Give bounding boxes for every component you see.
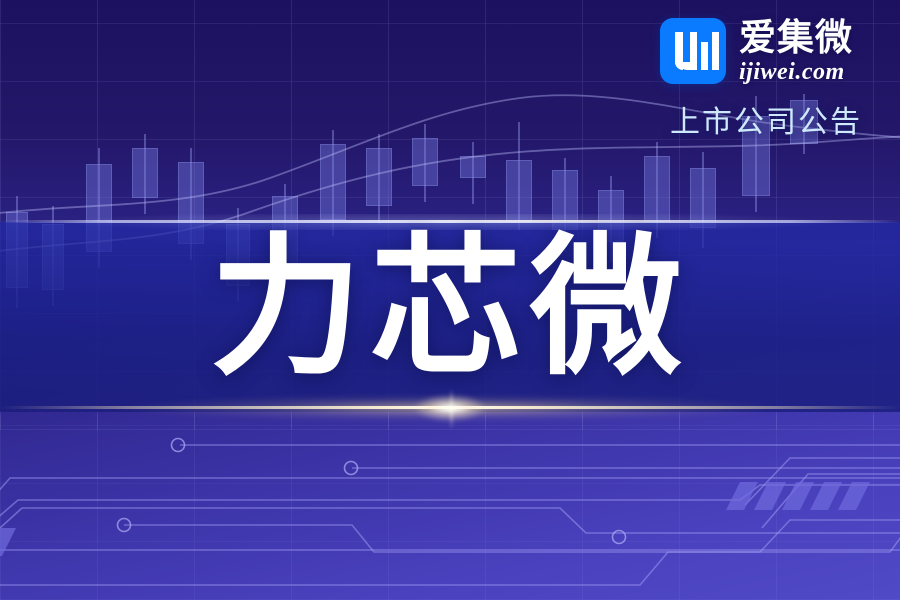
brand-name-cn: 爱集微 <box>739 19 853 56</box>
ijiwei-bars-logo-icon <box>660 18 726 84</box>
circuit-pattern <box>0 400 900 600</box>
brand-name-en: ijiwei.com <box>739 60 853 84</box>
brand-subtitle: 上市公司公告 <box>660 97 872 141</box>
brand-row: 爱集微 ijiwei.com <box>660 18 872 84</box>
announcement-banner: 力芯微 爱集微 ijiwei.com 上市公司公告 <box>0 0 900 600</box>
brand-block: 爱集微 ijiwei.com 上市公司公告 <box>660 18 872 141</box>
page-title: 力芯微 <box>0 228 900 388</box>
brand-text: 爱集微 ijiwei.com <box>739 19 853 84</box>
